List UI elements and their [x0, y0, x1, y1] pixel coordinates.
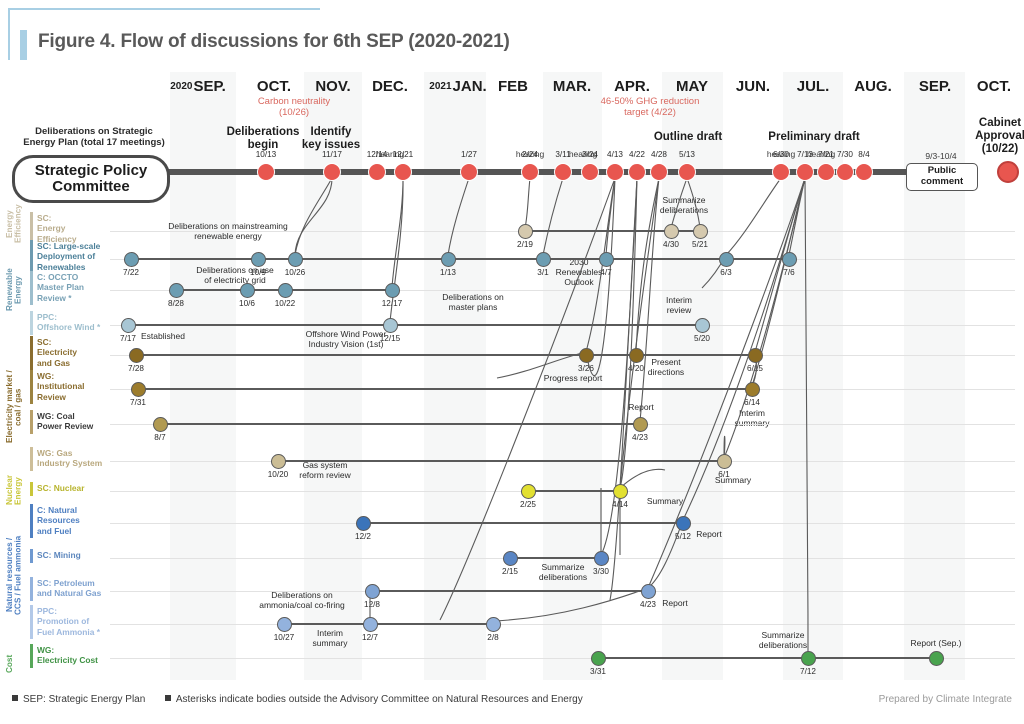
- timeline-annotation: Carbon neutrality(10/26): [214, 96, 374, 118]
- row-color-tick: [30, 240, 33, 274]
- month-label: 2020SEP.: [154, 78, 242, 95]
- row-color-tick: [30, 605, 33, 639]
- meeting-node[interactable]: [503, 551, 518, 566]
- row-connector: [372, 590, 648, 592]
- row-color-tick: [30, 549, 33, 563]
- row-label: SC:Electricityand Gas: [37, 337, 77, 368]
- row-connector: [510, 557, 601, 559]
- row-color-tick: [30, 271, 33, 305]
- meeting-node[interactable]: [385, 283, 400, 298]
- timeline-node[interactable]: [855, 163, 873, 181]
- node-annotation: Summary: [663, 475, 803, 485]
- meeting-node-date: 7/28: [112, 364, 160, 373]
- meeting-node[interactable]: [153, 417, 168, 432]
- row-connector: [131, 258, 789, 260]
- row-color-tick: [30, 447, 33, 471]
- main-timeline-bar: [90, 169, 915, 175]
- row-connector: [363, 522, 683, 524]
- meeting-node[interactable]: [441, 252, 456, 267]
- row-connector: [160, 423, 640, 425]
- row-color-tick: [30, 504, 33, 538]
- public-comment-box[interactable]: Publiccomment: [906, 163, 978, 191]
- row-label: PPC:Offshore Wind *: [37, 312, 100, 333]
- category-group-label: NuclearEnergy: [6, 477, 23, 505]
- meeting-node[interactable]: [664, 224, 679, 239]
- row-label: SC: Large-scaleDeployment ofRenewables: [37, 241, 100, 272]
- timeline-node-date: 8/4: [840, 150, 888, 159]
- node-annotation: Offshore Wind PowerIndustry Vision (1st): [276, 329, 416, 349]
- meeting-node-date: 7/22: [107, 268, 155, 277]
- row-connector: [598, 657, 936, 659]
- row-baseline: [110, 624, 1015, 625]
- connector-wires: [0, 0, 1024, 724]
- row-color-tick: [30, 644, 33, 668]
- category-group-label: Electricity market /coal / gas: [6, 337, 23, 477]
- meeting-node-date: 8/7: [136, 433, 184, 442]
- meeting-node[interactable]: [124, 252, 139, 267]
- meeting-node-date: 7/6: [765, 268, 813, 277]
- meeting-node[interactable]: [717, 454, 732, 469]
- node-annotation: Deliberations onammonia/coal co-firing: [232, 590, 372, 610]
- row-label: WG:InstitutionalReview: [37, 371, 84, 402]
- timeline-node[interactable]: [368, 163, 386, 181]
- meeting-node[interactable]: [633, 417, 648, 432]
- meeting-node[interactable]: [801, 651, 816, 666]
- timeline-node[interactable]: [394, 163, 412, 181]
- meeting-node[interactable]: [695, 318, 710, 333]
- meeting-node[interactable]: [251, 252, 266, 267]
- row-color-tick: [30, 311, 33, 335]
- category-group-label: Natural resources /CCS / Fuel ammonia: [6, 505, 23, 645]
- meeting-node[interactable]: [929, 651, 944, 666]
- node-annotation: Established: [93, 331, 233, 341]
- meeting-node[interactable]: [518, 224, 533, 239]
- row-label: SC: Nuclear: [37, 483, 84, 493]
- meeting-node-date: 5/21: [676, 240, 724, 249]
- meeting-node-date: 5/20: [678, 334, 726, 343]
- meeting-node-date: 12/2: [339, 532, 387, 541]
- month-column: [783, 72, 843, 680]
- month-column: [424, 72, 486, 680]
- node-annotation: Presentdirections: [596, 357, 736, 377]
- timeline-node[interactable]: [772, 163, 790, 181]
- committee-caption: Deliberations on StrategicEnergy Plan (t…: [14, 126, 174, 149]
- meeting-node[interactable]: [277, 617, 292, 632]
- row-connector: [284, 623, 493, 625]
- meeting-node-date: 10/22: [261, 299, 309, 308]
- timeline-node[interactable]: [678, 163, 696, 181]
- meeting-node-date: 1/13: [424, 268, 472, 277]
- row-label: WG:Electricity Cost: [37, 645, 98, 666]
- timeline-node[interactable]: [521, 163, 539, 181]
- row-color-tick: [30, 482, 33, 496]
- category-group-label: RenewableEnergy: [6, 243, 23, 337]
- row-color-tick: [30, 336, 33, 370]
- node-annotation: Interimreview: [609, 295, 749, 315]
- meeting-node[interactable]: [363, 617, 378, 632]
- meeting-node-date: 6/15: [731, 364, 779, 373]
- meeting-node[interactable]: [169, 283, 184, 298]
- node-annotation: Report: [605, 598, 745, 608]
- timeline-node-date: 11/17: [308, 150, 356, 159]
- page-title: Figure 4. Flow of discussions for 6th SE…: [38, 31, 510, 53]
- meeting-node[interactable]: [613, 484, 628, 499]
- timeline-node[interactable]: [796, 163, 814, 181]
- title-top-rule: [8, 8, 320, 10]
- timeline-node[interactable]: [323, 163, 341, 181]
- timeline-node[interactable]: [257, 163, 275, 181]
- node-annotation: Summarizedeliberations: [614, 195, 754, 215]
- timeline-node[interactable]: [581, 163, 599, 181]
- row-connector: [528, 490, 620, 492]
- meeting-node[interactable]: [383, 318, 398, 333]
- meeting-node[interactable]: [719, 252, 734, 267]
- meeting-node[interactable]: [271, 454, 286, 469]
- meeting-node[interactable]: [129, 348, 144, 363]
- timeline-node[interactable]: [650, 163, 668, 181]
- timeline-annotation: 46-50% GHG reductiontarget (4/22): [570, 96, 730, 118]
- row-label: PPC:Promotion ofFuel Ammonia *: [37, 606, 100, 637]
- meeting-node[interactable]: [486, 617, 501, 632]
- month-label: OCT.: [950, 78, 1024, 95]
- meeting-node[interactable]: [131, 382, 146, 397]
- footnote-1: SEP: Strategic Energy Plan Asterisks ind…: [12, 694, 583, 705]
- row-label: SC: Petroleumand Natural Gas: [37, 578, 101, 599]
- timeline-node-date: 12/21: [379, 150, 427, 159]
- meeting-node[interactable]: [365, 584, 380, 599]
- node-annotation: Interimsummary: [682, 408, 822, 428]
- meeting-node[interactable]: [745, 382, 760, 397]
- meeting-node-date: 8/28: [152, 299, 200, 308]
- meeting-node[interactable]: [629, 348, 644, 363]
- row-connector: [136, 354, 755, 356]
- row-label: WG: GasIndustry System: [37, 448, 102, 469]
- meeting-node-date: 7/12: [784, 667, 832, 676]
- row-label: SC: Mining: [37, 550, 81, 560]
- phase-label: CabinetApproval(10/22): [935, 117, 1024, 156]
- phase-label: Identifykey issues: [266, 126, 396, 152]
- meeting-node[interactable]: [536, 252, 551, 267]
- strategic-policy-committee[interactable]: Strategic PolicyCommittee: [12, 155, 170, 203]
- meeting-node[interactable]: [591, 651, 606, 666]
- meeting-node[interactable]: [579, 348, 594, 363]
- timeline-node-date: 1/27: [445, 150, 493, 159]
- node-annotation: Report (Sep.): [866, 638, 1006, 648]
- meeting-node[interactable]: [288, 252, 303, 267]
- meeting-node[interactable]: [240, 283, 255, 298]
- meeting-node-date: 2/19: [501, 240, 549, 249]
- timeline-node[interactable]: [817, 163, 835, 181]
- row-label: SC:EnergyEfficiency: [37, 213, 77, 244]
- meeting-node[interactable]: [356, 516, 371, 531]
- timeline-node[interactable]: [836, 163, 854, 181]
- timeline-node[interactable]: [460, 163, 478, 181]
- phase-label: Outline draft: [623, 131, 753, 144]
- meeting-node[interactable]: [748, 348, 763, 363]
- bullet-square-icon: [12, 695, 18, 701]
- public-comment-dates: 9/3-10/4: [906, 151, 976, 161]
- row-label: C: NaturalResourcesand Fuel: [37, 505, 80, 536]
- meeting-node[interactable]: [693, 224, 708, 239]
- title-accent-bar: [20, 30, 27, 60]
- timeline-node[interactable]: [628, 163, 646, 181]
- cabinet-approval-node[interactable]: [997, 161, 1019, 183]
- timeline-node[interactable]: [606, 163, 624, 181]
- category-group-label: Cost: [6, 645, 15, 683]
- meeting-node-date: 2/25: [504, 500, 552, 509]
- title-left-rule: [8, 8, 10, 60]
- footnote-2-text: Asterisks indicate bodies outside the Ad…: [176, 694, 583, 705]
- meeting-node[interactable]: [278, 283, 293, 298]
- meeting-node-date: 6/3: [702, 268, 750, 277]
- meeting-node[interactable]: [521, 484, 536, 499]
- meeting-node[interactable]: [676, 516, 691, 531]
- category-group-label: EnergyEfficiency: [6, 205, 23, 243]
- timeline-node[interactable]: [554, 163, 572, 181]
- phase-label: Preliminary draft: [749, 131, 879, 144]
- meeting-node-date: 7/31: [114, 398, 162, 407]
- timeline-node-date: 10/13: [242, 150, 290, 159]
- row-color-tick: [30, 577, 33, 601]
- row-label: C: OCCTOMaster PlanReview *: [37, 272, 84, 303]
- footnote-1-text: SEP: Strategic Energy Plan: [23, 694, 145, 705]
- row-color-tick: [30, 410, 33, 434]
- row-connector: [278, 460, 724, 462]
- node-annotation: Summarizedeliberations: [713, 630, 853, 650]
- node-annotation: Report: [639, 529, 779, 539]
- row-connector: [138, 388, 752, 390]
- timeline-node-date: 5/13: [663, 150, 711, 159]
- row-label: WG: CoalPower Review: [37, 411, 93, 432]
- meeting-node-date: 4/23: [616, 433, 664, 442]
- node-annotation: Deliberations onmaster plans: [403, 292, 543, 312]
- credit-line: Prepared by Climate Integrate: [879, 694, 1012, 705]
- month-column: [170, 72, 236, 680]
- bullet-square-icon-2: [165, 695, 171, 701]
- row-connector: [128, 324, 702, 326]
- meeting-node[interactable]: [782, 252, 797, 267]
- meeting-node-date: 6/14: [728, 398, 776, 407]
- node-annotation: 2030RenewablesOutlook: [509, 257, 649, 288]
- meeting-node[interactable]: [641, 584, 656, 599]
- meeting-node-date: 2/8: [469, 633, 517, 642]
- meeting-node[interactable]: [599, 252, 614, 267]
- row-color-tick: [30, 370, 33, 404]
- meeting-node[interactable]: [121, 318, 136, 333]
- meeting-node[interactable]: [594, 551, 609, 566]
- meeting-node-date: 3/31: [574, 667, 622, 676]
